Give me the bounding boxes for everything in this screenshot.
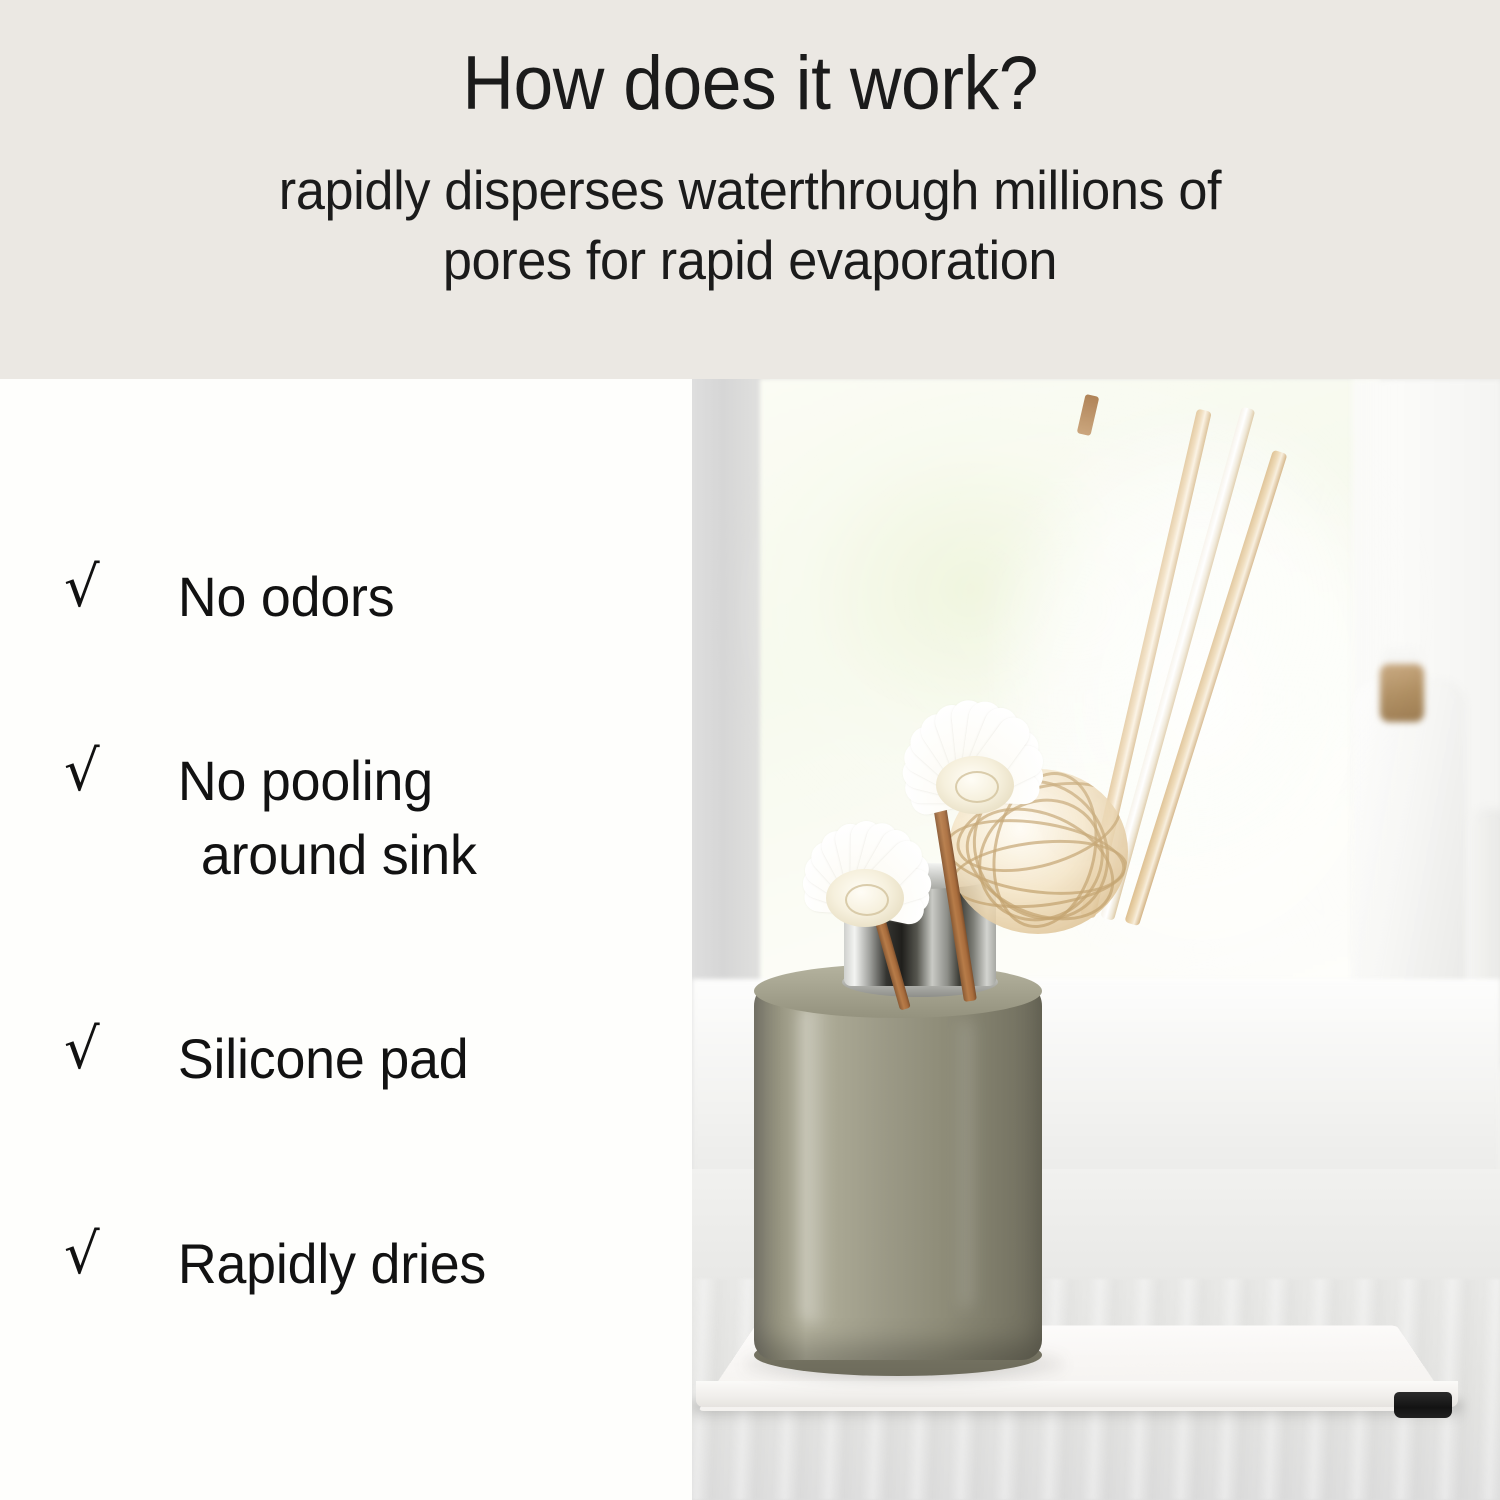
- diffuser-bottle: [754, 980, 1042, 1360]
- feature-label-line-1: No odors: [178, 565, 395, 628]
- feature-label-line-2: around sink: [178, 818, 643, 892]
- feature-label: No pooling around sink: [126, 744, 642, 893]
- feature-label-line-1: Rapidly dries: [178, 1232, 486, 1295]
- header-band: How does it work? rapidly disperses wate…: [0, 0, 1500, 379]
- tray-rubber-foot: [1394, 1392, 1452, 1418]
- bottle-highlight-right: [954, 1019, 972, 1309]
- product-photo: [692, 379, 1500, 1500]
- tray-edge: [696, 1381, 1458, 1407]
- feature-list: √ No odors √ No pooling around sink √ Si…: [0, 379, 692, 1500]
- feature-label-line-1: Silicone pad: [178, 1027, 469, 1090]
- checkmark-icon: √: [64, 560, 126, 616]
- cork-stopper-icon: [1380, 664, 1424, 722]
- checkmark-icon: √: [64, 1022, 126, 1078]
- subtitle-line-2: pores for rapid evaporation: [279, 226, 1221, 296]
- bottle-highlight: [800, 1004, 830, 1324]
- subtitle-line-1: rapidly disperses waterthrough millions …: [279, 156, 1221, 226]
- body-area: √ No odors √ No pooling around sink √ Si…: [0, 379, 1500, 1500]
- flower-core-ring: [845, 884, 889, 916]
- feature-label-line-1: No pooling: [178, 749, 433, 812]
- feature-label: No odors: [126, 560, 642, 634]
- page-title: How does it work?: [462, 46, 1038, 122]
- checkmark-icon: √: [64, 744, 126, 800]
- infographic-page: How does it work? rapidly disperses wate…: [0, 0, 1500, 1500]
- feature-item-no-pooling-around-sink: √ No pooling around sink: [64, 744, 664, 893]
- feature-label: Silicone pad: [126, 1022, 642, 1096]
- feature-item-no-odors: √ No odors: [64, 560, 664, 634]
- background-bottle: [1354, 679, 1466, 1009]
- feature-item-rapidly-dries: √ Rapidly dries: [64, 1227, 664, 1301]
- feature-label: Rapidly dries: [126, 1227, 642, 1301]
- checkmark-icon: √: [64, 1227, 126, 1283]
- page-subtitle: rapidly disperses waterthrough millions …: [279, 156, 1221, 296]
- flower-core-ring: [955, 771, 999, 803]
- feature-item-silicone-pad: √ Silicone pad: [64, 1022, 664, 1096]
